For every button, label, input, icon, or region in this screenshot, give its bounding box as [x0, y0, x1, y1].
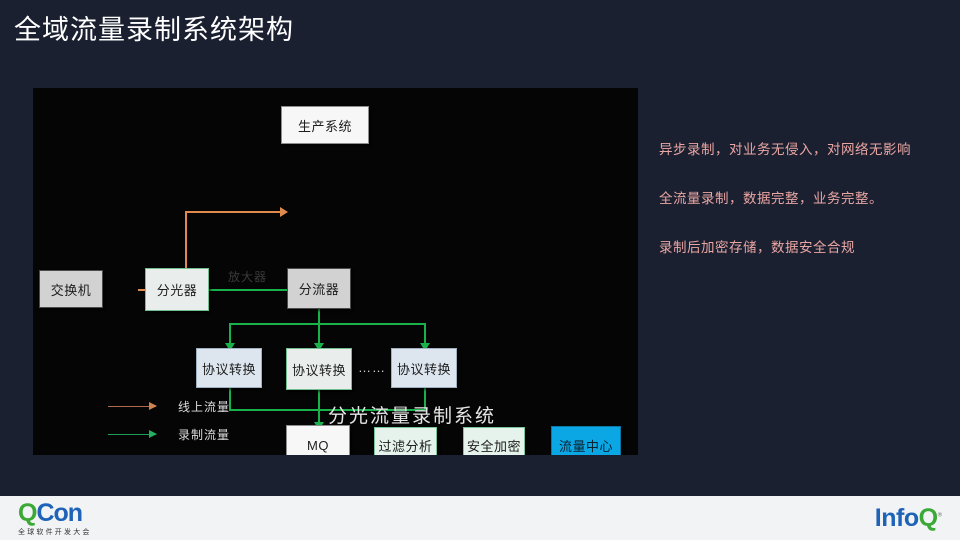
- legend-line-record: [108, 434, 156, 435]
- node-filter[interactable]: 过滤分析: [374, 427, 437, 455]
- legend-label-record: 录制流量: [178, 426, 230, 443]
- bullet-item-3: 录制后加密存储，数据安全合规: [659, 236, 959, 256]
- qcon-logo: QCon 全球软件开发大会: [18, 500, 92, 537]
- legend-item-online: 线上流量: [108, 398, 230, 415]
- qcon-logo-subtitle: 全球软件开发大会: [18, 527, 92, 537]
- edge-up-to-production: [185, 211, 281, 213]
- page-title: 全域流量录制系统架构: [14, 8, 294, 47]
- node-traffic-center[interactable]: 流量中心: [551, 426, 621, 455]
- node-shunt[interactable]: 分流器: [287, 268, 351, 309]
- ellipsis-label: ……: [358, 360, 386, 375]
- infoq-logo-info: Info: [875, 504, 919, 532]
- node-protocol-2[interactable]: 协议转换: [286, 348, 352, 390]
- infoq-logo-q: Q: [919, 504, 938, 532]
- node-protocol-1[interactable]: 协议转换: [196, 348, 262, 388]
- legend-label-online: 线上流量: [178, 398, 230, 415]
- bullet-item-1: 异步录制，对业务无侵入，对网络无影响: [659, 138, 959, 158]
- arrowhead-to-production: [280, 207, 288, 217]
- fanout-left-drop: [229, 323, 231, 345]
- legend-line-online: [108, 406, 156, 407]
- edge-splitter-up: [185, 211, 187, 273]
- infoq-logo: InfoQ®: [875, 504, 942, 533]
- fanout-right-drop: [424, 323, 426, 345]
- edge-label-amplifier: 放大器: [228, 268, 267, 285]
- merge-mid-riser: [318, 388, 320, 409]
- diagram-caption: 分光流量录制系统: [328, 401, 496, 428]
- node-splitter[interactable]: 分光器: [145, 268, 209, 311]
- architecture-diagram: 放大器 交换机 分光器 生产系统 分流器 协议转换 协议转换 …… 协议转换 M…: [33, 88, 638, 455]
- node-protocol-3[interactable]: 协议转换: [391, 348, 457, 388]
- node-switch[interactable]: 交换机: [39, 270, 103, 308]
- qcon-logo-q: Q: [18, 499, 36, 527]
- node-production[interactable]: 生产系统: [281, 106, 369, 144]
- legend-item-record: 录制流量: [108, 426, 230, 443]
- infoq-logo-trademark: ®: [938, 513, 942, 519]
- node-encrypt[interactable]: 安全加密: [463, 427, 525, 455]
- node-mq[interactable]: MQ: [286, 425, 350, 455]
- fanout-bus: [229, 323, 425, 325]
- qcon-logo-con: Con: [36, 499, 82, 527]
- feature-bullet-list: 异步录制，对业务无侵入，对网络无影响 全流量录制，数据完整，业务完整。 录制后加…: [659, 138, 959, 285]
- slide-footer: QCon 全球软件开发大会 InfoQ®: [0, 496, 960, 540]
- bullet-item-2: 全流量录制，数据完整，业务完整。: [659, 187, 959, 207]
